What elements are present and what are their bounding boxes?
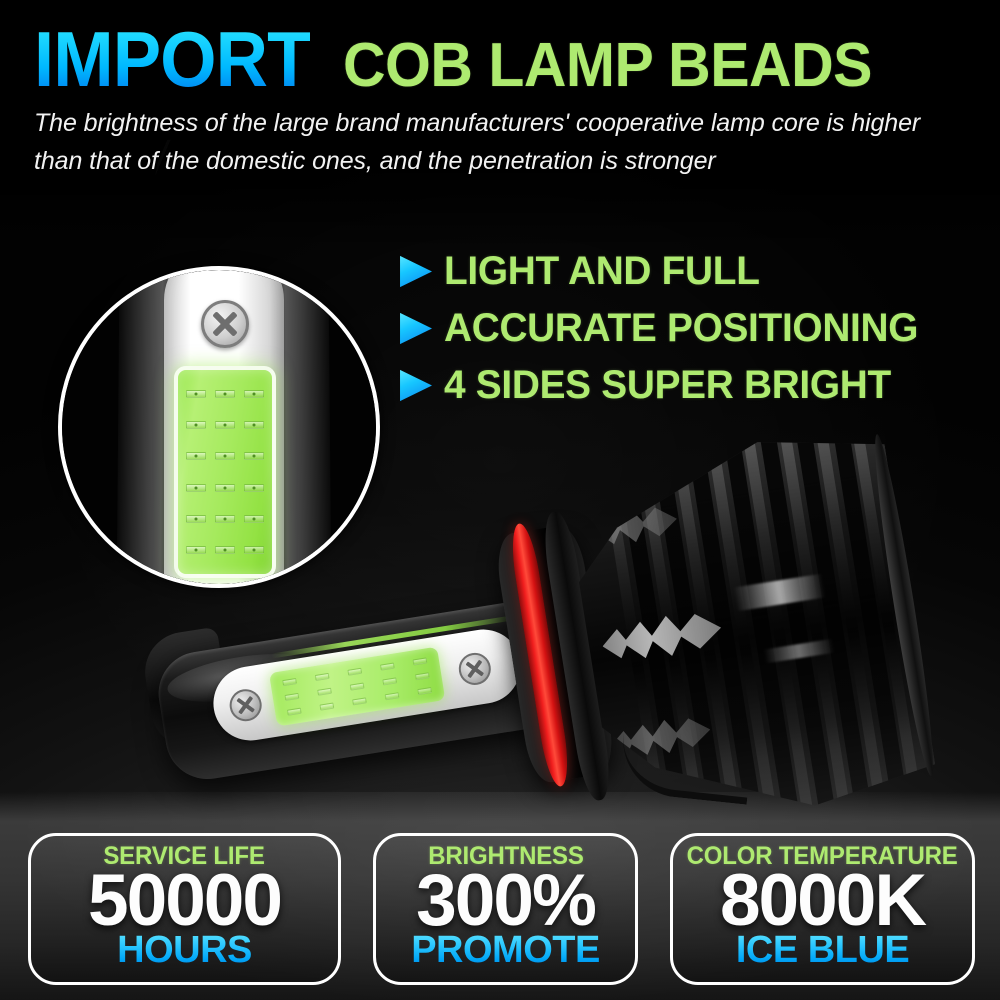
feature-item: 4 SIDES SUPER BRIGHT	[398, 357, 998, 414]
feature-label: LIGHT AND FULL	[444, 249, 760, 294]
feature-item: ACCURATE POSITIONING	[398, 300, 998, 357]
screw-icon	[457, 651, 494, 688]
cob-chip-closeup	[58, 266, 380, 588]
magnifier-content	[62, 270, 376, 584]
feature-item: LIGHT AND FULL	[398, 243, 998, 300]
stat-value: 8000K	[720, 866, 925, 936]
header-subtitle: The brightness of the large brand manufa…	[34, 104, 934, 180]
stat-label: BRIGHTNESS	[428, 843, 583, 869]
stats-row: SERVICE LIFE 50000 HOURS BRIGHTNESS 300%…	[0, 833, 1000, 985]
play-triangle-icon	[398, 255, 432, 289]
header: IMPORTCOB LAMP BEADS The brightness of t…	[0, 0, 1000, 190]
title-accent-import: IMPORT	[34, 14, 311, 105]
stat-value: 300%	[416, 866, 595, 936]
stat-card-service-life: SERVICE LIFE 50000 HOURS	[28, 833, 341, 985]
title-main-cob-lamp-beads: COB LAMP BEADS	[343, 30, 872, 101]
play-triangle-icon	[398, 312, 432, 346]
cob-led-panel-magnified	[174, 366, 276, 578]
stat-value: 50000	[88, 866, 281, 936]
stat-card-brightness: BRIGHTNESS 300% PROMOTE	[373, 833, 638, 985]
product-promo-image: IMPORTCOB LAMP BEADS The brightness of t…	[0, 0, 1000, 1000]
magnifier-ring	[58, 266, 380, 588]
screw-icon	[201, 300, 249, 348]
stat-label: SERVICE LIFE	[104, 843, 265, 869]
feature-label: ACCURATE POSITIONING	[444, 306, 918, 351]
stat-unit: HOURS	[117, 931, 252, 969]
stat-unit: ICE BLUE	[736, 931, 909, 969]
stat-card-color-temperature: COLOR TEMPERATURE 8000K ICE BLUE	[670, 833, 975, 985]
feature-list: LIGHT AND FULL ACCURATE POSITIONING 4 SI…	[398, 243, 998, 414]
feature-label: 4 SIDES SUPER BRIGHT	[444, 363, 891, 408]
stat-label: COLOR TEMPERATURE	[687, 843, 958, 869]
stat-unit: PROMOTE	[411, 931, 600, 969]
page-title: IMPORTCOB LAMP BEADS	[34, 14, 900, 105]
play-triangle-icon	[398, 369, 432, 403]
screw-icon	[227, 687, 264, 724]
